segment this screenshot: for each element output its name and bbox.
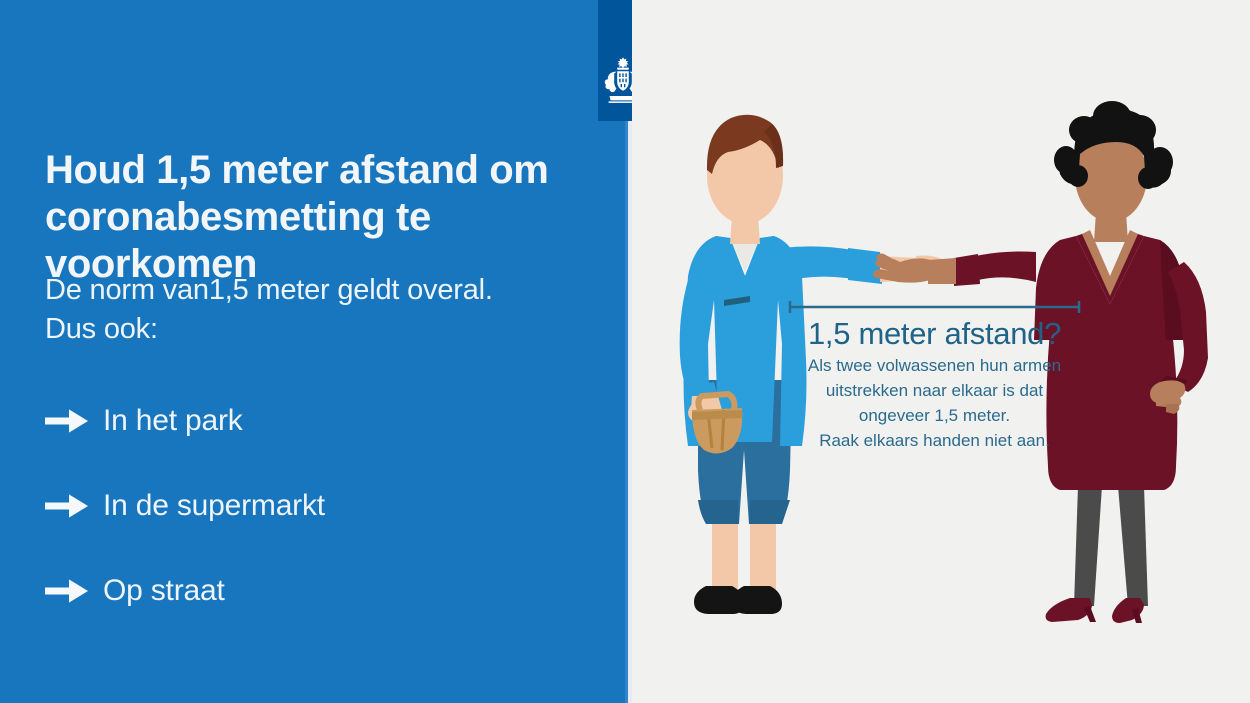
arrow-right-icon (45, 576, 89, 606)
caption-line-3: ongeveer 1,5 meter. (782, 403, 1087, 428)
bullet-list: In het park In de supermarkt Op straat (45, 378, 585, 633)
subtitle-line-1: De norm van1,5 meter geldt overal. (45, 274, 493, 306)
distance-measure-line-icon (787, 300, 1082, 314)
caption-line-1: Als twee volwassenen hun armen (782, 353, 1087, 378)
illustration-stage: 1,5 meter afstand? Als twee volwassenen … (632, 0, 1250, 703)
list-item-label: Op straat (103, 576, 225, 606)
list-item: In het park (45, 378, 585, 463)
caption-body: Als twee volwassenen hun armen uitstrekk… (782, 353, 1087, 453)
distance-caption: 1,5 meter afstand? Als twee volwassenen … (782, 316, 1087, 453)
caption-line-2: uitstrekken naar elkaar is dat (782, 378, 1087, 403)
list-item: Op straat (45, 548, 585, 633)
arrow-right-icon (45, 491, 89, 521)
page-title: Houd 1,5 meter afstand om coronabesmetti… (45, 147, 605, 288)
subtitle: De norm van1,5 meter geldt overal. Dus o… (45, 271, 590, 349)
list-item-label: In de supermarkt (103, 491, 325, 521)
corona-distance-poster: Houd 1,5 meter afstand om coronabesmetti… (0, 0, 1250, 703)
list-item: In de supermarkt (45, 463, 585, 548)
arrow-right-icon (45, 406, 89, 436)
headline-line-1: Houd 1,5 meter afstand om (45, 148, 548, 192)
caption-title: 1,5 meter afstand? (782, 316, 1087, 352)
caption-line-4: Raak elkaars handen niet aan. (782, 428, 1087, 453)
list-item-label: In het park (103, 406, 243, 436)
subtitle-line-2: Dus ook: (45, 313, 158, 345)
